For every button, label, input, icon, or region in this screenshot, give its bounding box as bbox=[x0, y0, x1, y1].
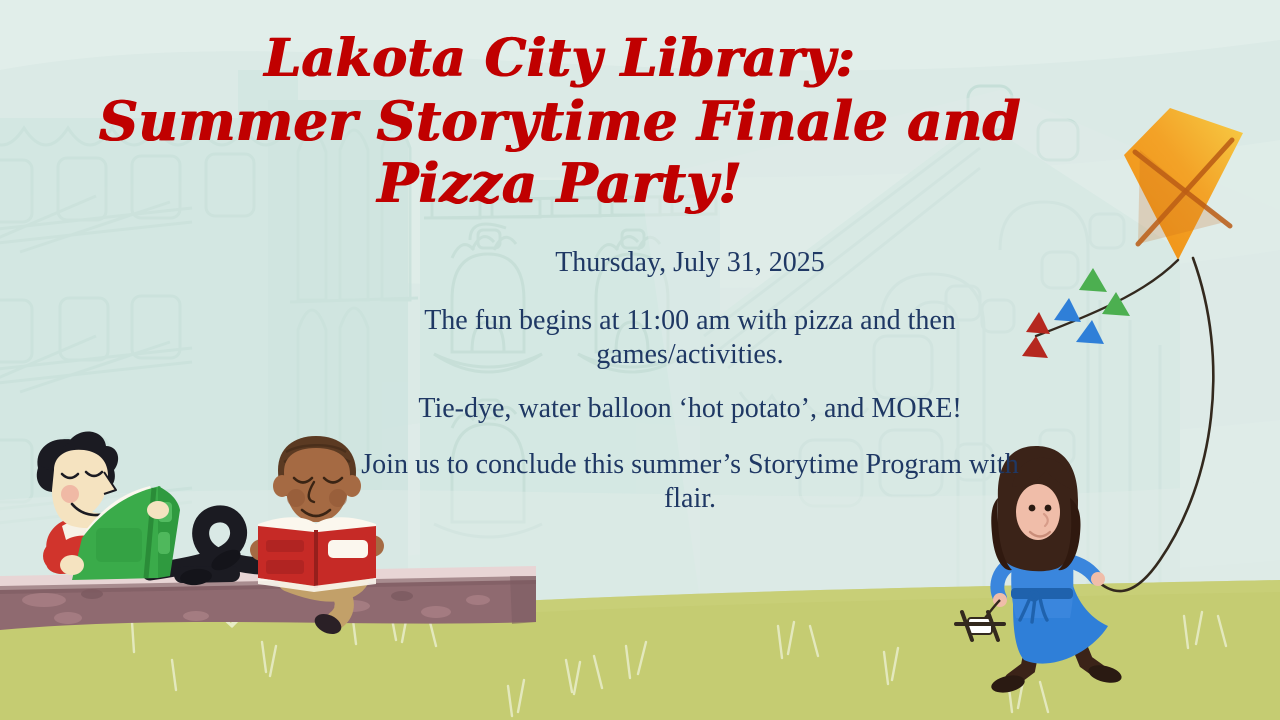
reader1-hand-lower bbox=[60, 555, 84, 575]
kite-tail-string bbox=[1036, 260, 1178, 336]
reader2-cheek-right bbox=[329, 489, 347, 507]
reclining-reader bbox=[37, 431, 284, 586]
event-invitation-text: Join us to conclude this summer’s Storyt… bbox=[360, 448, 1020, 516]
event-schedule-text: The fun begins at 11:00 am with pizza an… bbox=[360, 304, 1020, 372]
reader2-cheek-left bbox=[287, 489, 305, 507]
reader1-hand-upper bbox=[147, 501, 169, 519]
girl-face bbox=[1016, 484, 1060, 540]
girl-eye-left bbox=[1029, 505, 1036, 512]
poster-body-copy: Thursday, July 31, 2025 The fun begins a… bbox=[360, 246, 1020, 516]
girl-hand-front bbox=[1091, 572, 1105, 586]
reader2-face bbox=[284, 448, 350, 522]
kite-spool bbox=[956, 612, 1004, 640]
reader2-red-book-left bbox=[258, 526, 314, 586]
girl-eye-right bbox=[1045, 505, 1052, 512]
event-date: Thursday, July 31, 2025 bbox=[360, 246, 1020, 280]
poster-canvas: Lakota City Library: Summer Storytime Fi… bbox=[0, 0, 1280, 720]
reader1-cheek bbox=[61, 485, 79, 503]
event-activities-text: Tie-dye, water balloon ‘hot potato’, and… bbox=[360, 392, 1020, 426]
kite-tail-bows bbox=[1022, 268, 1130, 358]
